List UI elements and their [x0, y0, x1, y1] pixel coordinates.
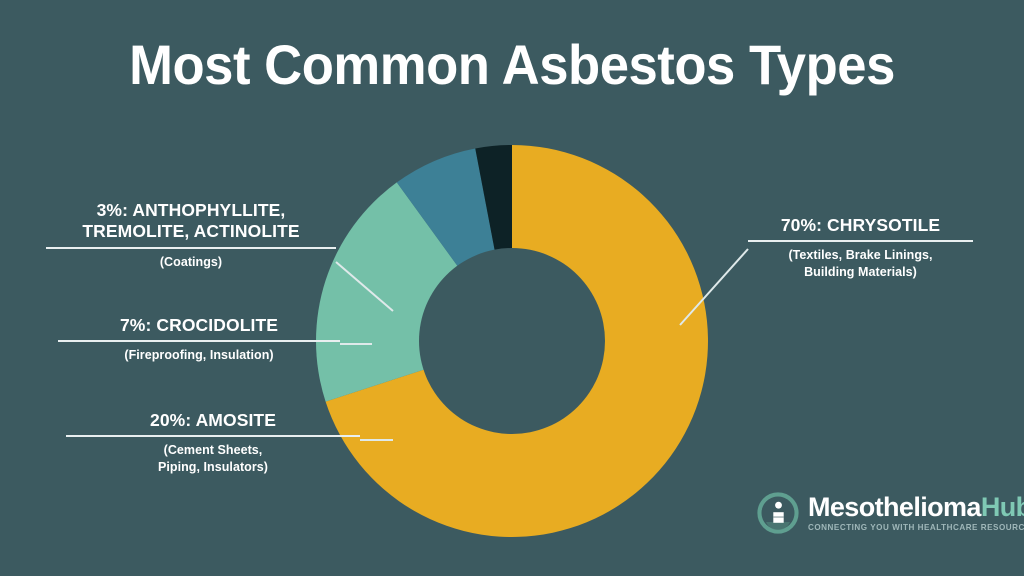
callout-amosite-headline: 20%: AMOSITE — [66, 410, 360, 431]
callout-anthophyllite-headline: 3%: ANTHOPHYLLITE, TREMOLITE, ACTINOLITE — [46, 200, 336, 243]
brand-logo[interactable]: MesotheliomaHub CONNECTING YOU WITH HEAL… — [757, 487, 1005, 539]
person-in-circle-icon — [757, 492, 799, 534]
callout-crocidolite-uses: (Fireproofing, Insulation) — [58, 347, 340, 364]
logo-tagline: CONNECTING YOU WITH HEALTHCARE RESOURCES — [808, 524, 1024, 532]
callout-crocidolite-rule — [58, 340, 340, 342]
callout-anthophyllite-rule — [46, 247, 336, 249]
logo-text: MesotheliomaHub CONNECTING YOU WITH HEAL… — [808, 494, 1024, 532]
infographic-canvas: Most Common Asbestos Types 3%: ANTHOPHYL… — [0, 0, 1024, 576]
donut-chart — [314, 143, 710, 539]
donut-hole — [419, 248, 605, 434]
logo-word-accent: Hub — [981, 492, 1024, 522]
callout-chrysotile-headline: 70%: CHRYSOTILE — [748, 215, 973, 236]
callout-anthophyllite: 3%: ANTHOPHYLLITE, TREMOLITE, ACTINOLITE… — [46, 200, 336, 270]
logo-word-primary: Mesothelioma — [808, 492, 981, 522]
callout-crocidolite-headline: 7%: CROCIDOLITE — [58, 315, 340, 336]
callout-chrysotile-rule — [748, 240, 973, 242]
callout-crocidolite: 7%: CROCIDOLITE (Fireproofing, Insulatio… — [58, 315, 340, 364]
callout-amosite-rule — [66, 435, 360, 437]
callout-amosite: 20%: AMOSITE (Cement Sheets, Piping, Ins… — [66, 410, 360, 476]
logo-wordmark: MesotheliomaHub — [808, 494, 1024, 521]
callout-chrysotile: 70%: CHRYSOTILE (Textiles, Brake Linings… — [748, 215, 973, 281]
callout-chrysotile-uses: (Textiles, Brake Linings, Building Mater… — [748, 247, 973, 280]
donut-chart-svg — [314, 143, 710, 539]
page-title: Most Common Asbestos Types — [31, 36, 994, 95]
callout-amosite-uses: (Cement Sheets, Piping, Insulators) — [66, 442, 360, 475]
callout-anthophyllite-uses: (Coatings) — [46, 254, 336, 271]
